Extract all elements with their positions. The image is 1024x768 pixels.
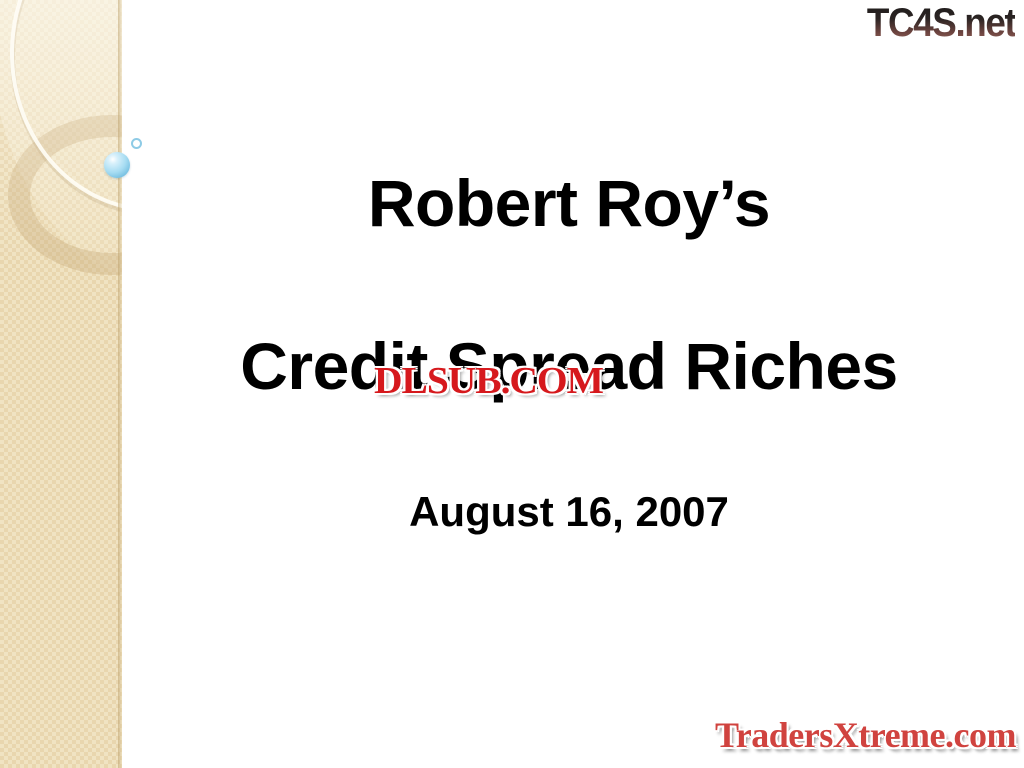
presentation-slide: Robert Roy’s Credit Spread Riches August… <box>0 0 1024 768</box>
tc4s-logo: TC4S.net <box>867 1 1015 45</box>
slide-title-line-1: Robert Roy’s <box>118 168 1020 238</box>
dlsub-watermark: DLSUB.COM <box>374 361 603 401</box>
decorative-sidebar <box>0 0 122 768</box>
tradersxtreme-logo: TradersXtreme.com <box>715 716 1016 754</box>
sidebar-gradient-wash <box>0 0 122 768</box>
slide-subtitle-date: August 16, 2007 <box>118 489 1020 535</box>
